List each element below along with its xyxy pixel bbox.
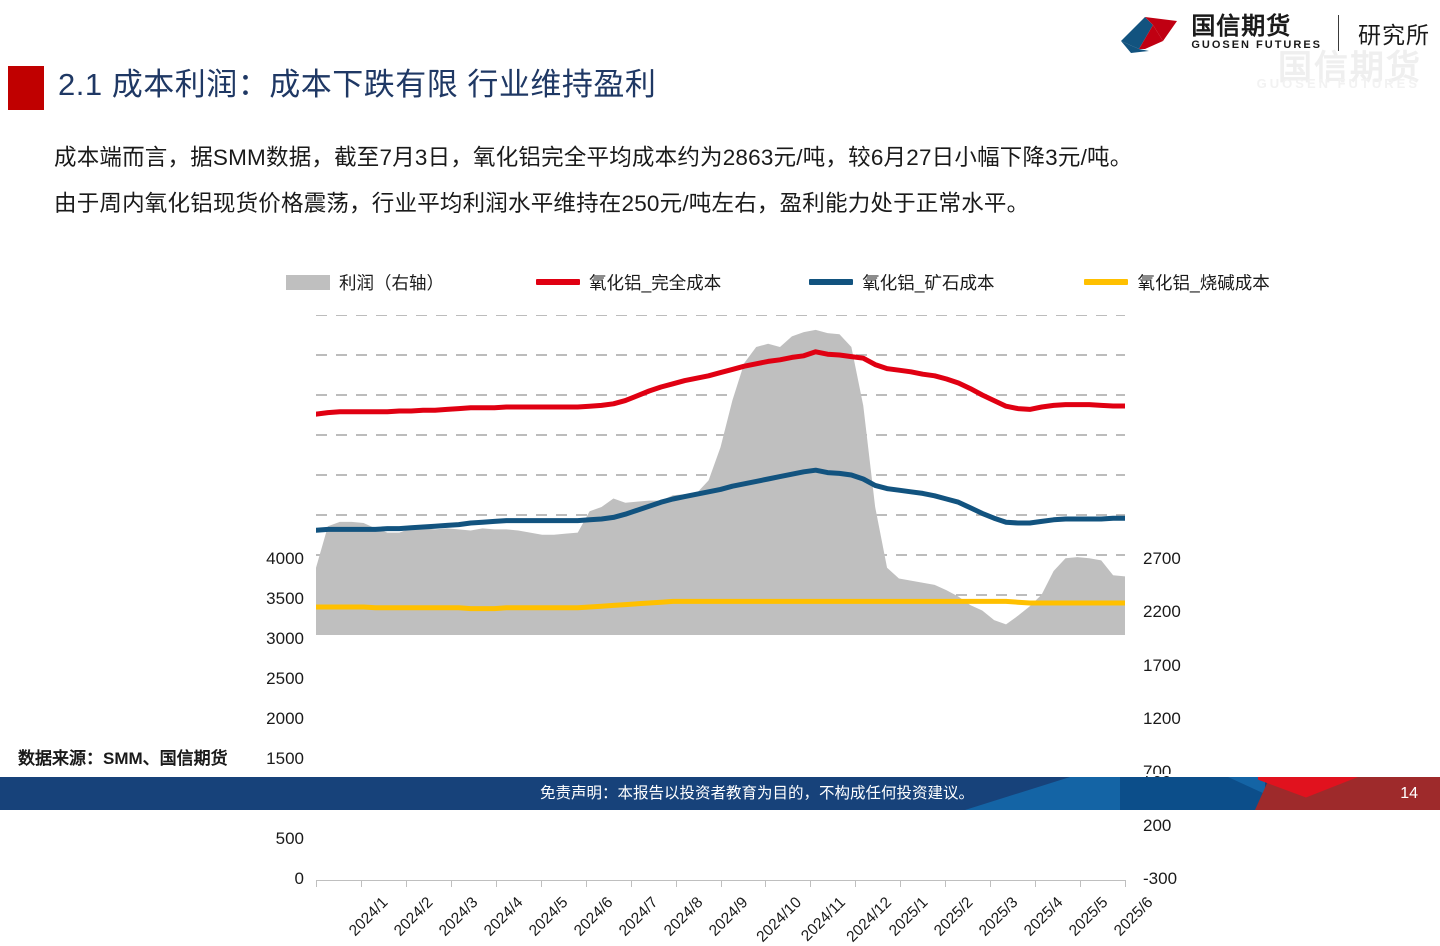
x-axis-tick-label: 2025/2	[931, 894, 977, 940]
x-axis-tick-label: 2024/11	[798, 894, 850, 946]
legend-item-0[interactable]: 利润（右轴）	[286, 270, 444, 295]
x-axis-tick-mark	[361, 880, 362, 887]
y-axis-left-tick: 4000	[244, 549, 304, 569]
logo-cn-text: 国信期货	[1191, 14, 1322, 39]
x-axis-tick-mark	[631, 880, 632, 887]
x-axis-tick-label: 2024/6	[571, 894, 617, 940]
brand-logo: 国信期货 GUOSEN FUTURES 研究所	[1119, 6, 1430, 60]
x-axis-tick-mark	[586, 880, 587, 887]
y-axis-left-tick: 2500	[244, 669, 304, 689]
x-axis-tick-label: 2024/8	[661, 894, 707, 940]
page-title: 2.1 成本利润：成本下跌有限 行业维持盈利	[58, 58, 656, 112]
chart-area-profit	[316, 330, 1125, 635]
slide-header: 2.1 成本利润：成本下跌有限 行业维持盈利	[0, 58, 1440, 114]
x-axis-tick-label: 2024/12	[843, 894, 895, 946]
y-axis-right-tick: 2200	[1143, 602, 1203, 622]
chart-line-0	[316, 352, 1125, 414]
body-paragraph-1: 成本端而言，据SMM数据，截至7月3日，氧化铝完全平均成本约为2863元/吨，较…	[54, 140, 1132, 172]
x-axis-tick-mark	[676, 880, 677, 887]
slide-root: 2.1 成本利润：成本下跌有限 行业维持盈利 国信期货 GUOSEN FUTUR…	[0, 0, 1440, 810]
logo-divider	[1338, 15, 1339, 51]
legend-label: 氧化铝_烧碱成本	[1137, 270, 1269, 295]
footer-bar: 免责声明：本报告以投资者教育为目的，不构成任何投资建议。 14	[0, 777, 1440, 810]
x-axis-tick-label: 2024/5	[526, 894, 572, 940]
footer-disclaimer: 免责声明：本报告以投资者教育为目的，不构成任何投资建议。	[540, 777, 974, 810]
y-axis-left-tick: 0	[244, 869, 304, 889]
x-axis-tick-label: 2024/3	[436, 894, 482, 940]
x-axis-tick-label: 2025/4	[1021, 894, 1067, 940]
legend-label: 利润（右轴）	[339, 270, 444, 295]
x-axis-tick-mark	[1125, 880, 1126, 887]
x-axis-tick-label: 2025/6	[1110, 894, 1156, 940]
page-number: 14	[1400, 777, 1418, 810]
y-axis-right-tick: 1200	[1143, 709, 1203, 729]
x-axis-tick-mark	[721, 880, 722, 887]
y-axis-right-tick: 2700	[1143, 549, 1203, 569]
legend-swatch-area-icon	[286, 275, 330, 290]
y-axis-right-tick: -300	[1143, 869, 1203, 889]
legend-item-1[interactable]: 氧化铝_完全成本	[536, 270, 721, 295]
x-axis-tick-mark	[900, 880, 901, 887]
legend-label: 氧化铝_完全成本	[589, 270, 721, 295]
logo-department-text: 研究所	[1358, 16, 1430, 50]
chart-svg	[316, 315, 1125, 635]
y-axis-left-tick: 3500	[244, 589, 304, 609]
x-axis-tick-label: 2024/2	[391, 894, 437, 940]
x-axis-tick-label: 2024/7	[616, 894, 662, 940]
logo-en-text: GUOSEN FUTURES	[1191, 39, 1322, 52]
logo-mark-icon	[1119, 11, 1181, 55]
x-axis-tick-label: 2024/4	[481, 894, 527, 940]
x-axis-tick-mark	[496, 880, 497, 887]
x-axis-tick-mark	[855, 880, 856, 887]
x-axis-tick-label: 2024/10	[753, 894, 805, 946]
x-axis-tick-label: 2025/1	[886, 894, 932, 940]
legend-label: 氧化铝_矿石成本	[862, 270, 994, 295]
x-axis-tick-mark	[1080, 880, 1081, 887]
y-axis-left-tick: 2000	[244, 709, 304, 729]
y-axis-left-tick: 500	[244, 829, 304, 849]
x-axis-tick-mark	[990, 880, 991, 887]
x-axis-tick-mark	[451, 880, 452, 887]
x-axis-tick-label: 2024/9	[706, 894, 752, 940]
x-axis-tick-label: 2025/3	[976, 894, 1022, 940]
x-axis-tick-mark	[316, 880, 317, 887]
x-axis-tick-label: 2024/1	[346, 894, 392, 940]
y-axis-left-tick: 3000	[244, 629, 304, 649]
legend-swatch-line-icon	[1084, 279, 1128, 285]
chart-legend: 利润（右轴）氧化铝_完全成本氧化铝_矿石成本氧化铝_烧碱成本	[286, 267, 1166, 297]
x-axis-tick-label: 2025/5	[1065, 894, 1111, 940]
legend-swatch-line-icon	[536, 279, 580, 285]
legend-item-2[interactable]: 氧化铝_矿石成本	[809, 270, 994, 295]
x-axis-tick-mark	[541, 880, 542, 887]
x-axis-tick-mark	[765, 880, 766, 887]
x-axis-tick-mark	[945, 880, 946, 887]
y-axis-left-tick: 1500	[244, 749, 304, 769]
legend-item-3[interactable]: 氧化铝_烧碱成本	[1084, 270, 1269, 295]
x-axis-tick-mark	[810, 880, 811, 887]
footer-divider	[0, 774, 1440, 776]
title-accent-block	[8, 66, 44, 110]
legend-swatch-line-icon	[809, 279, 853, 285]
x-axis-tick-mark	[1035, 880, 1036, 887]
logo-wordmark: 国信期货 GUOSEN FUTURES	[1191, 14, 1322, 52]
y-axis-right-tick: 200	[1143, 816, 1203, 836]
cost-profit-chart: 利润（右轴）氧化铝_完全成本氧化铝_矿石成本氧化铝_烧碱成本 050010001…	[0, 245, 1440, 715]
y-axis-right-tick: 1700	[1143, 656, 1203, 676]
data-source-label: 数据来源：SMM、国信期货	[18, 744, 228, 769]
x-axis-tick-mark	[406, 880, 407, 887]
body-paragraph-2: 由于周内氧化铝现货价格震荡，行业平均利润水平维持在250元/吨左右，盈利能力处于…	[54, 186, 1029, 218]
